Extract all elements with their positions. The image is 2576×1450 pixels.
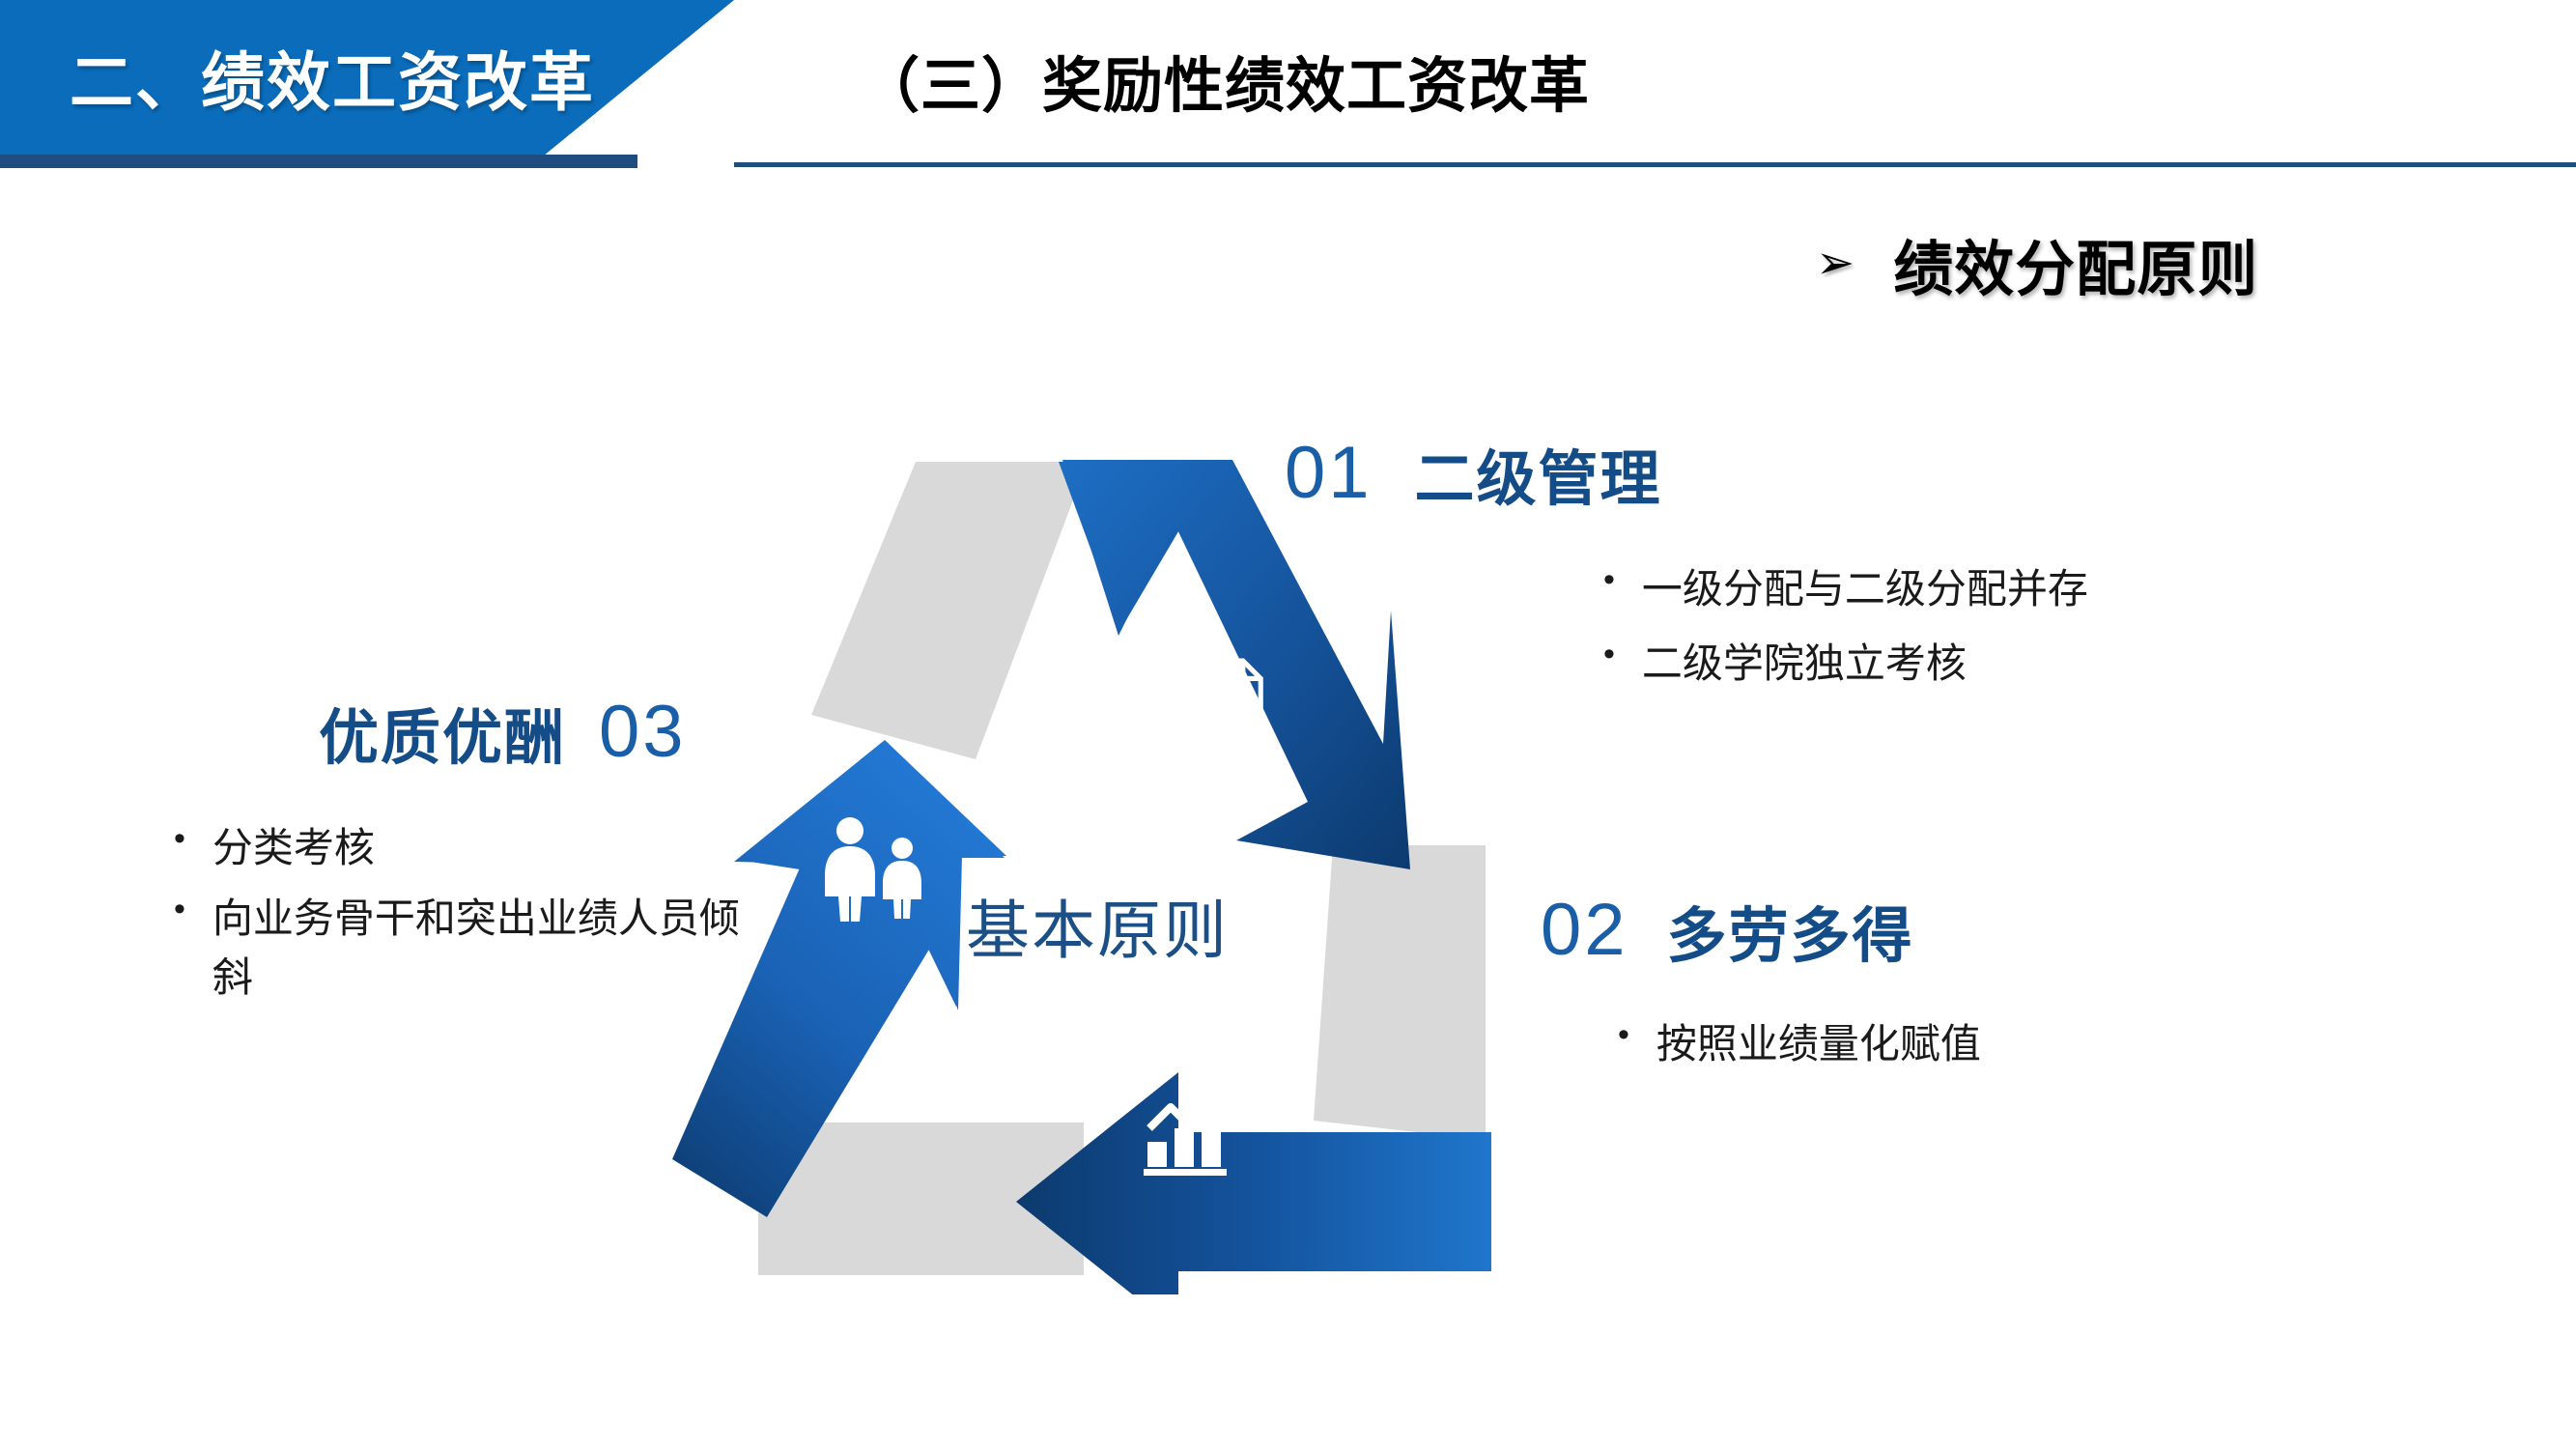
principle-heading-label: 绩效分配原则 <box>1893 220 2258 307</box>
shadow-block-top <box>811 462 1088 759</box>
bullet-dot-icon: • <box>174 819 185 859</box>
bullet-dot-icon: • <box>174 890 185 929</box>
stage-01-number: 01 <box>1285 437 1373 510</box>
stage-01-bullet-list: • 一级分配与二级分配并存 • 二级学院独立考核 <box>1603 560 2366 694</box>
principle-heading: ➢ 绩效分配原则 <box>1816 220 2258 307</box>
bullet-dot-icon: • <box>1618 1015 1629 1055</box>
page-title: （三）奖励性绩效工资改革 <box>860 37 1590 124</box>
stage-02-title: 多劳多得 <box>1667 907 1914 967</box>
header-section-label: 二、绩效工资改革 <box>70 29 688 135</box>
header-navy-underline <box>0 155 637 168</box>
bullet-dot-icon: • <box>1603 635 1615 674</box>
bullet-text: 按照业绩量化赋值 <box>1656 1015 2545 1074</box>
bullet-dot-icon: • <box>1603 560 1615 600</box>
slide-header: 二、绩效工资改革 （三）奖励性绩效工资改革 <box>0 0 2576 174</box>
list-item: • 一级分配与二级分配并存 <box>1603 560 2366 619</box>
stage-03-number: 03 <box>599 696 687 769</box>
stage-01-header: 01 二级管理 <box>1285 437 2366 510</box>
shadow-block-right <box>1314 845 1486 1140</box>
stage-03-header: 优质优酬 03 <box>319 696 763 769</box>
header-divider-rule <box>734 162 2576 167</box>
stage-02-bullet-list: • 按照业绩量化赋值 <box>1618 1015 2545 1074</box>
stage-block-01: 01 二级管理 • 一级分配与二级分配并存 • 二级学院独立考核 <box>1285 437 2366 709</box>
stage-block-03: 优质优酬 03 • 分类考核 • 向业务骨干和突出业绩人员倾斜 <box>164 696 763 1019</box>
bullet-text: 分类考核 <box>212 819 763 878</box>
list-item: • 分类考核 <box>174 819 763 878</box>
list-item: • 二级学院独立考核 <box>1603 635 2366 694</box>
stage-block-02: 02 多劳多得 • 按照业绩量化赋值 <box>1541 894 2545 1090</box>
bullet-text: 向业务骨干和突出业绩人员倾斜 <box>212 890 763 1008</box>
stage-03-title: 优质优酬 <box>319 709 566 769</box>
stage-02-number: 02 <box>1541 894 1628 967</box>
bullet-text: 一级分配与二级分配并存 <box>1642 560 2366 619</box>
list-item: • 向业务骨干和突出业绩人员倾斜 <box>174 890 763 1008</box>
stage-03-bullet-list: • 分类考核 • 向业务骨干和突出业绩人员倾斜 <box>174 819 763 1008</box>
document-icon <box>1203 661 1260 744</box>
list-item: • 按照业绩量化赋值 <box>1618 1015 2545 1074</box>
cycle-center-label: 基本原则 <box>966 879 1229 972</box>
stage-01-title: 二级管理 <box>1415 450 1662 510</box>
bullet-text: 二级学院独立考核 <box>1642 635 2366 694</box>
stage-02-header: 02 多劳多得 <box>1541 894 2545 967</box>
arrow-bullet-icon: ➢ <box>1816 241 1854 287</box>
